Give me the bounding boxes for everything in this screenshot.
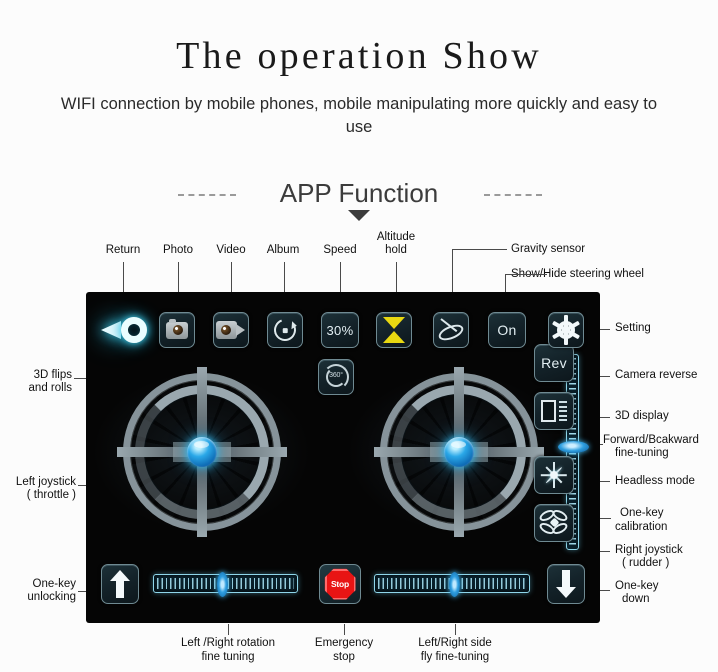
callout-video: Video [206, 244, 256, 257]
altitude-hold-button[interactable] [376, 312, 412, 348]
altitude-hold-icon [383, 317, 405, 343]
return-arrow-icon [101, 321, 121, 339]
3d-display-icon [541, 400, 567, 422]
callout-right-joystick-line1: Right joystick [615, 544, 683, 557]
return-button[interactable] [101, 312, 155, 348]
callout-speed: Speed [315, 244, 365, 257]
slider-handle[interactable] [449, 572, 460, 597]
joystick-knob[interactable] [187, 437, 217, 467]
callout-altitude-hold-line1: Altitude [370, 231, 422, 244]
album-button[interactable] [267, 312, 303, 348]
callout-return: Return [98, 244, 148, 257]
callout-side-fly-line2: fly fine-tuning [391, 651, 519, 664]
callout-right-joystick-line2: ( rudder ) [622, 557, 669, 570]
left-joystick[interactable] [117, 367, 287, 537]
callout-gravity-sensor: Gravity sensor [511, 243, 585, 256]
callout-calibration-line1: One-key [620, 507, 663, 520]
callout-emergency-line1: Emergency [294, 637, 394, 650]
callout-left-joystick-line2: ( throttle ) [6, 489, 76, 502]
arrow-up-icon [110, 570, 130, 598]
photo-button[interactable] [159, 312, 195, 348]
3d-display-button[interactable] [534, 392, 574, 430]
callout-headless-mode: Headless mode [615, 475, 695, 488]
gyroscope-icon [438, 317, 464, 343]
one-key-down-button[interactable] [547, 564, 585, 604]
drone-calibration-icon [540, 511, 568, 535]
slider-handle[interactable] [558, 441, 589, 453]
flip-360-label: 360° [323, 372, 349, 379]
video-button[interactable] [213, 312, 249, 348]
joystick-knob[interactable] [444, 437, 474, 467]
callout-calibration-line2: calibration [615, 521, 667, 534]
callout-setting: Setting [615, 322, 651, 335]
callout-one-key-down-line2: down [622, 593, 650, 606]
return-ring-icon [121, 317, 147, 343]
app-function-band: APP Function [0, 178, 718, 222]
emergency-stop-button[interactable]: Stop [319, 564, 361, 604]
callout-side-fly-line1: Left/Right side [391, 637, 519, 650]
setting-button[interactable] [548, 312, 584, 348]
callout-rotation-line1: Left /Right rotation [158, 637, 298, 650]
callout-fine-tuning-line2: fine-tuning [615, 447, 669, 460]
page-title: The operation Show [0, 34, 718, 78]
speed-button[interactable]: 30% [321, 312, 359, 348]
app-control-panel: 30% On 360° [86, 292, 600, 623]
flip-360-icon: 360° [323, 364, 349, 390]
headless-mode-button[interactable] [534, 456, 574, 494]
camera-reverse-label: Rev [541, 355, 567, 371]
leader-emergency-v [344, 624, 345, 635]
arrow-down-icon [556, 570, 576, 598]
right-control-stack: Rev [534, 344, 592, 559]
callout-3d-flips-line1: 3D flips [10, 369, 72, 382]
leader-return [123, 262, 124, 296]
steering-wheel-toggle-value: On [497, 322, 516, 338]
callout-3d-display: 3D display [615, 410, 669, 423]
speed-value: 30% [327, 323, 354, 338]
callout-one-key-down-line1: One-key [615, 580, 658, 593]
callout-emergency-line2: stop [294, 651, 394, 664]
gravity-sensor-button[interactable] [433, 312, 469, 348]
page-subtitle: WIFI connection by mobile phones, mobile… [59, 93, 659, 139]
leader-steering-h [505, 274, 547, 275]
slider-handle[interactable] [217, 572, 228, 597]
dashed-rule-left [178, 194, 236, 196]
steering-wheel-toggle[interactable]: On [488, 312, 526, 348]
refresh-circle-icon [270, 315, 299, 344]
left-right-rotation-fine-tuning-slider[interactable] [153, 574, 298, 593]
caret-down-icon [0, 210, 718, 221]
section-title: APP Function [0, 178, 718, 209]
video-camera-icon [216, 321, 246, 339]
callout-left-joystick-line1: Left joystick [6, 476, 76, 489]
leader-gravity-h [452, 249, 507, 250]
leader-rotation-v [228, 624, 229, 635]
callout-rotation-line2: fine tuning [158, 651, 298, 664]
callout-one-key-unlocking-line2: unlocking [6, 591, 76, 604]
callout-photo: Photo [153, 244, 203, 257]
callout-one-key-unlocking-line1: One-key [6, 578, 76, 591]
leader-side-fly-v [455, 624, 456, 635]
callout-3d-flips-line2: and rolls [10, 382, 72, 395]
stop-octagon-icon: Stop [325, 569, 356, 600]
gear-icon [553, 317, 579, 343]
one-key-unlocking-button[interactable] [101, 564, 139, 604]
callout-camera-reverse: Camera reverse [615, 369, 697, 382]
callout-altitude-hold-line2: hold [370, 244, 422, 257]
right-joystick[interactable] [374, 367, 544, 537]
camera-reverse-button[interactable]: Rev [534, 344, 574, 382]
callout-fine-tuning-line1: Forward/Bcakward [603, 434, 699, 447]
headless-mode-icon [541, 462, 567, 488]
callout-album: Album [258, 244, 308, 257]
stop-label: Stop [331, 579, 349, 589]
left-right-side-fly-fine-tuning-slider[interactable] [374, 574, 530, 593]
one-key-calibration-button[interactable] [534, 504, 574, 542]
dashed-rule-right [484, 194, 542, 196]
camera-icon [166, 322, 188, 339]
flip-360-button[interactable]: 360° [318, 359, 354, 395]
